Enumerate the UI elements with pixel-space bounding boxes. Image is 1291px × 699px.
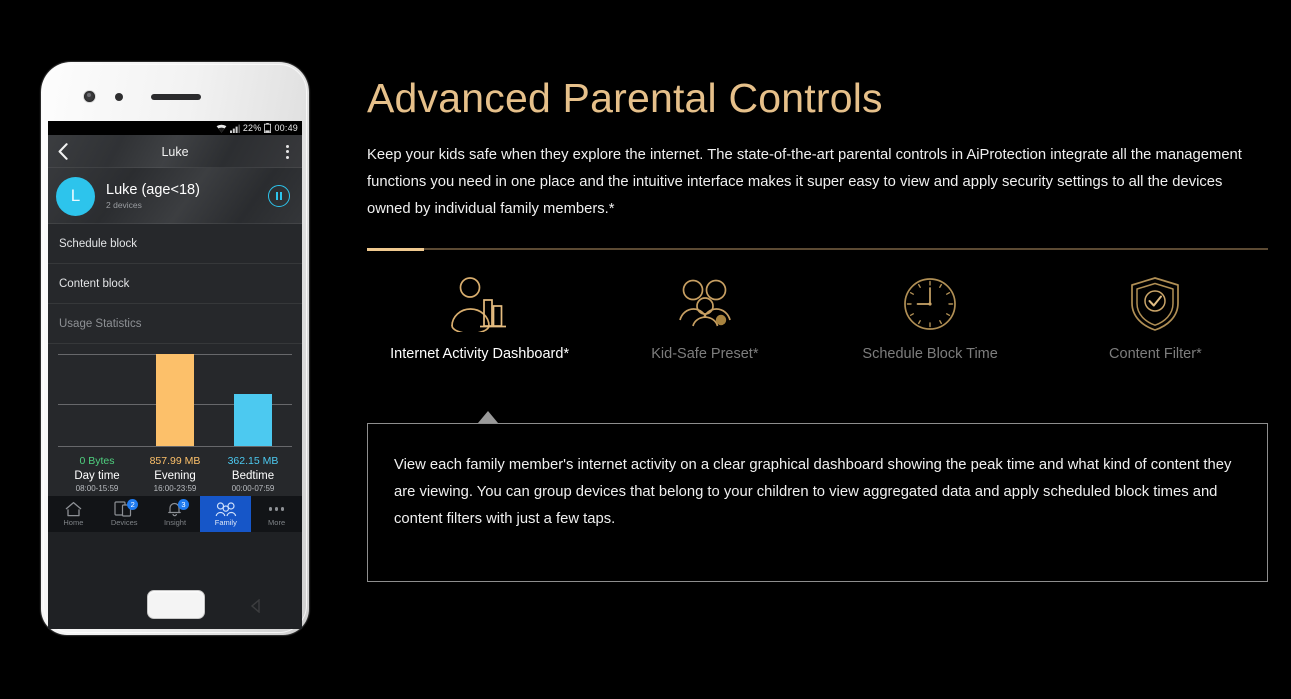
avatar-letter: L: [71, 186, 80, 206]
profile-name: Luke (age<18): [106, 182, 268, 199]
proximity-sensor-icon: [115, 93, 123, 101]
bar-slot: [58, 354, 136, 446]
bar-evening: [156, 354, 194, 446]
menu-item-schedule-block[interactable]: Schedule block: [48, 224, 302, 264]
chart-category-label: Day time: [58, 467, 136, 482]
tab-badge: 3: [178, 499, 189, 510]
home-icon: [64, 501, 83, 517]
tab-insight[interactable]: 3 Insight: [150, 496, 201, 532]
tab-label: Devices: [111, 518, 138, 527]
feature-schedule-block-time[interactable]: Schedule Block Time: [818, 272, 1043, 362]
feature-icon-wrap: [1128, 272, 1182, 336]
chart-value-label: 857.99 MB: [136, 455, 214, 467]
chart-time-range: 00:00-07:59: [214, 482, 292, 496]
status-clock: 00:49: [274, 124, 298, 133]
recents-key-icon[interactable]: [248, 599, 263, 613]
phone-mockup: 22% 00:49 Luke: [41, 62, 309, 635]
menu-item-label: Content block: [59, 278, 129, 290]
family-group-icon: [674, 276, 736, 332]
page-title: Advanced Parental Controls: [367, 62, 1268, 121]
person-bar-chart-icon: [449, 276, 511, 332]
chart-category-labels: Day time Evening Bedtime: [48, 467, 302, 482]
phone-screen: 22% 00:49 Luke: [48, 121, 302, 629]
shield-check-icon: [1128, 275, 1182, 333]
feature-content-filter[interactable]: Content Filter*: [1043, 272, 1268, 362]
feature-label: Content Filter*: [1109, 346, 1202, 362]
app-bar-title: Luke: [78, 145, 272, 159]
bar-slot: [214, 354, 292, 446]
bar-slot: [136, 354, 214, 446]
menu-item-label: Usage Statistics: [59, 318, 141, 330]
front-camera-icon: [84, 91, 95, 102]
status-bar: 22% 00:49: [48, 121, 302, 135]
chart-value-label: 0 Bytes: [58, 455, 136, 467]
pause-circle-icon[interactable]: [268, 185, 290, 207]
menu-item-content-block[interactable]: Content block: [48, 264, 302, 304]
tab-label: Insight: [164, 518, 186, 527]
tab-home[interactable]: Home: [48, 496, 99, 532]
page-root: 22% 00:49 Luke: [0, 0, 1291, 699]
feature-icon-wrap: [901, 272, 959, 336]
feature-label: Kid-Safe Preset*: [651, 346, 758, 362]
feature-tab-row: Internet Activity Dashboard* Kid-Safe Pr…: [367, 272, 1268, 362]
divider-accent: [367, 248, 424, 251]
profile-text: Luke (age<18) 2 devices: [106, 182, 268, 211]
back-button[interactable]: [48, 143, 78, 160]
detail-panel: View each family member's internet activ…: [367, 423, 1268, 582]
feature-kid-safe-preset[interactable]: Kid-Safe Preset*: [592, 272, 817, 362]
app-bar: Luke: [48, 135, 302, 168]
gridline-baseline: [58, 446, 292, 447]
tab-label: Home: [63, 518, 83, 527]
profile-row[interactable]: L Luke (age<18) 2 devices: [48, 168, 302, 224]
chart-plot-area: [58, 354, 292, 446]
clock-icon: [901, 276, 959, 332]
feature-icon-wrap: [449, 272, 511, 336]
battery-percent-label: 22%: [243, 124, 262, 133]
earpiece-speaker: [151, 94, 201, 100]
chart-time-range-labels: 08:00-15:59 16:00-23:59 00:00-07:59: [48, 482, 302, 496]
feature-label: Schedule Block Time: [862, 346, 997, 362]
tab-badge: 2: [127, 499, 138, 510]
feature-label: Internet Activity Dashboard*: [390, 346, 569, 362]
content-column: Advanced Parental Controls Keep your kid…: [367, 62, 1268, 362]
family-group-icon: [215, 502, 237, 517]
chart-value-label: 362.15 MB: [214, 455, 292, 467]
signal-bars-icon: [230, 124, 240, 133]
tab-family[interactable]: Family: [200, 496, 251, 532]
bar-bedtime: [234, 394, 272, 446]
feature-icon-wrap: [674, 272, 736, 336]
back-chevron-icon: [58, 143, 68, 160]
chart-value-labels: 0 Bytes 857.99 MB 362.15 MB: [48, 454, 302, 467]
usage-statistics-chart: [48, 344, 302, 454]
chart-category-label: Bedtime: [214, 467, 292, 482]
chart-time-range: 08:00-15:59: [58, 482, 136, 496]
profile-device-count: 2 devices: [106, 200, 268, 210]
section-divider: [367, 248, 1268, 250]
menu-item-label: Schedule block: [59, 238, 137, 250]
more-dots-icon: [269, 502, 285, 517]
menu-item-usage-statistics[interactable]: Usage Statistics: [48, 304, 302, 344]
wifi-icon: [216, 124, 227, 133]
feature-internet-activity-dashboard[interactable]: Internet Activity Dashboard*: [367, 272, 592, 362]
battery-icon: [264, 123, 271, 133]
tab-label: More: [268, 518, 285, 527]
kebab-menu-icon: [286, 145, 289, 148]
tab-more[interactable]: More: [251, 496, 302, 532]
overflow-menu-button[interactable]: [272, 145, 302, 159]
bottom-tab-bar: Home 2 Devices 3 Insight: [48, 496, 302, 532]
chart-time-range: 16:00-23:59: [136, 482, 214, 496]
detail-panel-text: View each family member's internet activ…: [368, 424, 1267, 533]
intro-paragraph: Keep your kids safe when they explore th…: [367, 142, 1265, 223]
avatar: L: [56, 177, 95, 216]
tab-devices[interactable]: 2 Devices: [99, 496, 150, 532]
tab-label: Family: [215, 518, 237, 527]
chart-category-label: Evening: [136, 467, 214, 482]
home-button[interactable]: [147, 590, 205, 619]
active-tab-pointer: [478, 411, 498, 423]
